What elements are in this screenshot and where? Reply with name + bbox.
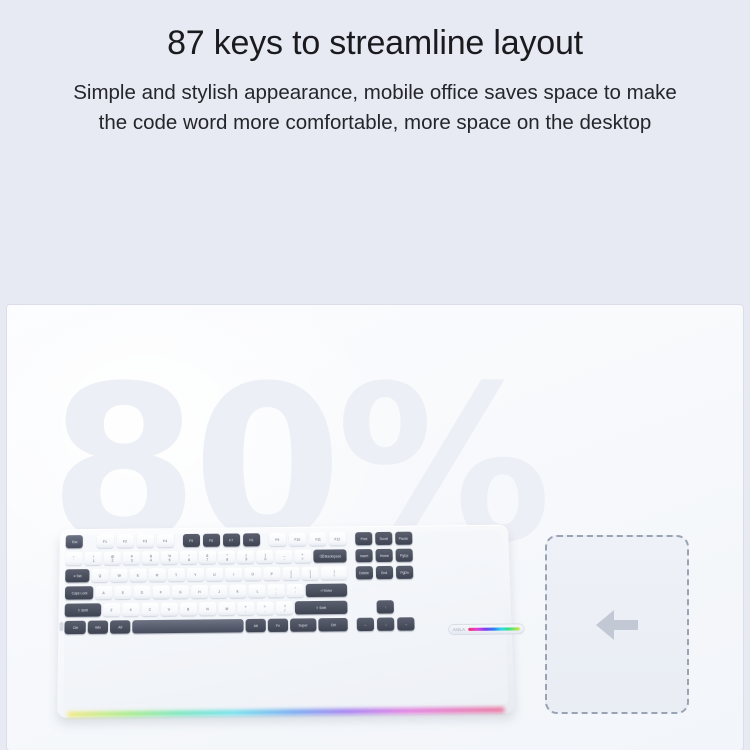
- key-legend: } ]: [310, 570, 311, 577]
- key-(-9[interactable]: ( 9: [237, 550, 254, 563]
- key-delete[interactable]: Delete: [356, 566, 373, 579]
- key-legend: ↓: [385, 622, 387, 626]
- key-f8[interactable]: F8: [243, 533, 260, 546]
- key-legend: ? /: [283, 604, 285, 611]
- key-f10[interactable]: F10: [289, 533, 306, 546]
- key-d[interactable]: D: [134, 586, 151, 599]
- arrow-left-icon: [590, 604, 644, 646]
- key-legend: N: [206, 607, 208, 611]
- key-legend: PgUp: [400, 553, 408, 557]
- key-_--[interactable]: _ -: [275, 550, 292, 563]
- key-f6[interactable]: F6: [203, 534, 220, 547]
- mechanical-keyboard: EscF1F2F3F4F5F6F7F8F9F10F11F12PrintScrol…: [57, 525, 515, 718]
- key-|-\[interactable]: | \: [321, 566, 347, 579]
- key-→[interactable]: →: [397, 617, 415, 630]
- key-legend: ( 9: [245, 553, 247, 560]
- key-&-7[interactable]: & 7: [199, 551, 216, 564]
- key-f12[interactable]: F12: [329, 532, 346, 545]
- key-legend: Insert: [360, 554, 368, 558]
- key-*-8[interactable]: * 8: [218, 550, 235, 563]
- key-legend: ~ `: [73, 555, 75, 562]
- key-legend: F6: [210, 538, 214, 542]
- key-v[interactable]: V: [161, 602, 178, 615]
- key-i[interactable]: I: [225, 567, 242, 580]
- key-win[interactable]: Win: [88, 620, 108, 633]
- key-legend: Scroll: [380, 537, 388, 541]
- key-legend: ⌫ Backspace: [319, 554, 341, 558]
- key-rgb-glow: [132, 619, 243, 633]
- key-legend: " ': [295, 587, 296, 594]
- key-legend: W: [117, 573, 120, 577]
- key-h[interactable]: H: [191, 585, 208, 598]
- key-home[interactable]: Home: [375, 549, 392, 562]
- key-legend: _ -: [283, 553, 285, 560]
- key-legend: Ctrl: [73, 626, 78, 630]
- key-%-5[interactable]: % 5: [161, 551, 178, 564]
- key-legend: @ 2: [110, 555, 113, 562]
- key-e[interactable]: E: [130, 568, 147, 581]
- key-legend: Super: [299, 623, 308, 627]
- key-⇥-tab[interactable]: ⇥ Tab: [65, 569, 89, 582]
- key-legend: O: [252, 572, 255, 576]
- key-legend: U: [213, 572, 215, 576]
- key-f[interactable]: F: [153, 585, 170, 598]
- key-legend: K: [237, 589, 239, 593]
- header-section: 87 keys to streamline layout Simple and …: [0, 0, 750, 300]
- key-legend: F2: [123, 539, 127, 543]
- key-←[interactable]: ←: [357, 618, 374, 631]
- key-legend: F11: [315, 537, 321, 541]
- key->-.[interactable]: > .: [257, 601, 274, 614]
- key-legend: | \: [333, 569, 334, 576]
- key-legend: Caps Lock: [71, 591, 87, 595]
- key-legend: & 7: [206, 554, 208, 561]
- key-legend: Esc: [71, 540, 77, 544]
- key-legend: Win: [95, 625, 101, 629]
- key-legend: I: [233, 572, 234, 576]
- key-legend: ) 0: [264, 553, 266, 560]
- key-⇧-shift[interactable]: ⇧ Shift: [295, 601, 348, 615]
- key-u[interactable]: U: [206, 568, 223, 581]
- key-legend: Alt: [118, 625, 122, 629]
- key-legend: R: [156, 573, 158, 577]
- key-alt[interactable]: Alt: [110, 620, 130, 633]
- key-legend: ⇧ Shift: [316, 606, 326, 610]
- key-f9[interactable]: F9: [269, 533, 286, 546]
- key-pgdn[interactable]: PgDn: [396, 566, 413, 579]
- key-b[interactable]: B: [180, 602, 197, 615]
- key-space[interactable]: [132, 619, 243, 633]
- key-legend: Ctrl: [330, 623, 335, 627]
- key-legend: V: [168, 607, 170, 611]
- subtitle-line-2: the code word more comfortable, more spa…: [14, 108, 736, 138]
- key-↓[interactable]: ↓: [377, 617, 394, 630]
- key-ctrl[interactable]: Ctrl: [64, 621, 85, 634]
- subtitle-line-1: Simple and stylish appearance, mobile of…: [14, 78, 736, 108]
- key-fn[interactable]: Fn: [268, 619, 288, 632]
- key-r[interactable]: R: [149, 568, 166, 581]
- key-legend: F7: [230, 538, 234, 542]
- key-legend: A: [103, 591, 105, 595]
- key-legend: F4: [163, 539, 167, 543]
- key-legend: J: [218, 590, 220, 594]
- key-@-2[interactable]: @ 2: [104, 552, 121, 565]
- key-q[interactable]: Q: [91, 569, 108, 582]
- key-?-/[interactable]: ? /: [276, 601, 293, 614]
- key-⌫-backspace[interactable]: ⌫ Backspace: [313, 549, 346, 562]
- key-print[interactable]: Print: [355, 532, 372, 545]
- key-legend: Q: [99, 574, 102, 578]
- key-<-,[interactable]: < ,: [237, 602, 254, 615]
- key-legend: H: [198, 590, 200, 594]
- key-n[interactable]: N: [199, 602, 216, 615]
- key-legend: F9: [276, 538, 280, 542]
- key-insert[interactable]: Insert: [355, 549, 372, 562]
- key-legend: > .: [264, 604, 266, 611]
- key-f7[interactable]: F7: [223, 533, 240, 546]
- key-legend: L: [256, 589, 258, 593]
- key-legend: Print: [360, 537, 367, 541]
- key-~-`[interactable]: ~ `: [65, 552, 82, 565]
- brand-logo-badge: AULA: [449, 624, 524, 634]
- key-legend: E: [137, 573, 139, 577]
- key-z[interactable]: Z: [103, 603, 120, 616]
- page-title: 87 keys to streamline layout: [0, 22, 750, 64]
- key-legend: End: [382, 571, 388, 575]
- key-legend: < ,: [245, 605, 247, 612]
- key-legend: F8: [250, 538, 254, 542]
- key-t[interactable]: T: [168, 568, 185, 581]
- key-legend: % 5: [168, 554, 171, 561]
- key-legend: M: [225, 607, 228, 611]
- key-legend: F10: [295, 537, 301, 541]
- key-legend: T: [175, 573, 177, 577]
- key-legend: ⏎ Enter: [321, 588, 333, 592]
- key-}-][interactable]: } ]: [301, 567, 318, 580]
- key-"-'[interactable]: " ': [287, 584, 304, 597]
- key-legend: + =: [302, 553, 304, 560]
- key-legend: * 8: [226, 553, 228, 560]
- key-g[interactable]: G: [172, 585, 189, 598]
- key-j[interactable]: J: [210, 585, 227, 598]
- key-y[interactable]: Y: [187, 568, 204, 581]
- key-legend: F: [160, 590, 162, 594]
- key-^-6[interactable]: ^ 6: [180, 551, 197, 564]
- key-legend: F12: [335, 537, 341, 541]
- key-legend: { [: [290, 570, 291, 577]
- key-{-[[interactable]: { [: [282, 567, 299, 580]
- key-l[interactable]: L: [248, 584, 265, 597]
- key-legend: →: [404, 622, 407, 626]
- key-legend: Y: [194, 573, 196, 577]
- key-end[interactable]: End: [376, 566, 393, 579]
- key-legend: S: [122, 591, 124, 595]
- key-legend: ^ 6: [188, 554, 190, 561]
- key-f11[interactable]: F11: [309, 533, 326, 546]
- key-alt[interactable]: Alt: [246, 619, 266, 632]
- rgb-gradient-bar: [468, 627, 520, 631]
- key-legend: ! 1: [92, 555, 94, 562]
- key-$-4[interactable]: $ 4: [142, 551, 159, 564]
- key-⏎-enter[interactable]: ⏎ Enter: [306, 583, 347, 597]
- key-↑[interactable]: ↑: [377, 600, 394, 613]
- key-k[interactable]: K: [229, 585, 246, 598]
- comparison-placeholder-box[interactable]: [545, 535, 689, 714]
- key-legend: ⇥ Tab: [73, 574, 82, 578]
- key-)-0[interactable]: ) 0: [256, 550, 273, 563]
- key-legend: Pause: [399, 536, 408, 540]
- key-legend: : ;: [276, 587, 277, 594]
- key-legend: # 3: [130, 554, 132, 561]
- key-legend: F1: [103, 539, 107, 543]
- key-m[interactable]: M: [218, 602, 235, 615]
- key-legend: G: [179, 590, 182, 594]
- key-legend: Fn: [276, 623, 280, 627]
- key-caps-lock[interactable]: Caps Lock: [65, 586, 93, 599]
- key-!-1[interactable]: ! 1: [85, 552, 102, 565]
- key-legend: B: [187, 607, 189, 611]
- key-legend: ⇧ Shift: [78, 608, 88, 612]
- key-legend: X: [130, 608, 132, 612]
- key-legend: F3: [143, 539, 147, 543]
- key-legend: C: [149, 607, 151, 611]
- key-super[interactable]: Super: [290, 618, 316, 632]
- key-x[interactable]: X: [122, 603, 139, 616]
- key-p[interactable]: P: [263, 567, 280, 580]
- key-s[interactable]: S: [114, 586, 131, 599]
- key-:-;[interactable]: : ;: [267, 584, 284, 597]
- key-esc[interactable]: Esc: [66, 535, 83, 548]
- key-o[interactable]: O: [244, 567, 261, 580]
- key-+-=[interactable]: + =: [294, 550, 311, 563]
- key-legend: P: [271, 572, 273, 576]
- key-⇧-shift[interactable]: ⇧ Shift: [65, 603, 102, 617]
- key-f1[interactable]: F1: [97, 535, 114, 548]
- key-legend: Home: [380, 554, 389, 558]
- key-#-3[interactable]: # 3: [123, 551, 140, 564]
- key-w[interactable]: W: [110, 569, 127, 582]
- key-c[interactable]: C: [141, 603, 158, 616]
- key-legend: $ 4: [149, 554, 151, 561]
- key-ctrl[interactable]: Ctrl: [318, 618, 348, 632]
- key-legend: PgDn: [400, 570, 408, 574]
- key-f4[interactable]: F4: [157, 534, 174, 547]
- key-f2[interactable]: F2: [117, 535, 134, 548]
- key-legend: ↑: [384, 605, 386, 609]
- keyboard-side-indicator: [59, 622, 63, 631]
- key-legend: Z: [111, 608, 113, 612]
- brand-name: AULA: [453, 627, 465, 632]
- key-f5[interactable]: F5: [183, 534, 200, 547]
- key-f3[interactable]: F3: [137, 534, 154, 547]
- key-scroll[interactable]: Scroll: [375, 532, 392, 545]
- key-legend: Delete: [360, 571, 370, 575]
- key-legend: ←: [364, 622, 367, 626]
- page-subtitle: Simple and stylish appearance, mobile of…: [0, 78, 750, 138]
- product-banner: 87 keys to streamline layout Simple and …: [0, 0, 750, 750]
- key-legend: Alt: [254, 624, 258, 628]
- key-legend: F5: [190, 539, 194, 543]
- key-pgup[interactable]: PgUp: [396, 549, 413, 562]
- key-legend: D: [141, 590, 143, 594]
- key-a[interactable]: A: [95, 586, 112, 599]
- key-pause[interactable]: Pause: [395, 532, 412, 545]
